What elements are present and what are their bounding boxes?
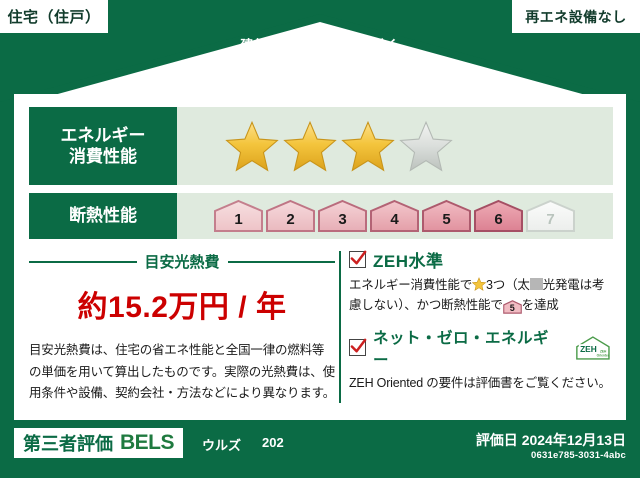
zeh-body-part-b: 3つ（太 [486, 278, 530, 292]
inline-badge-value: 5 [503, 300, 522, 317]
evaluation-date: 評価日 2024年12月13日 [476, 430, 626, 450]
bels-jp-label: 第三者評価 [23, 430, 113, 456]
bels-energy-label: 住宅（住戸） 再エネ設備なし 建築物省エネ法に基づく 省エネ性能ラベル エネルギ… [0, 0, 640, 478]
insulation-level-badge: 3 [317, 199, 368, 233]
star-filled-icon [225, 119, 279, 173]
energy-label-line1: エネルギー [61, 126, 146, 145]
utility-cost-amount: 約15.2万円 / 年 [29, 282, 335, 326]
energy-performance-label: エネルギー 消費性能 [29, 107, 177, 185]
zeh-net-checkbox[interactable] [349, 339, 366, 356]
zeh-body-part-d: を達成 [522, 298, 559, 312]
insulation-level-badge: 5 [421, 199, 472, 233]
insulation-level-badge: 2 [265, 199, 316, 233]
zeh-level-block: ZEH水準 エネルギー消費性能で3つ（太光発電は考慮しない）、かつ断熱性能で5を… [349, 247, 613, 316]
zeh-net-block: ネット・ゼロ・エネルギー ZEH ZEH Oriented ZEH Orient… [349, 326, 613, 393]
insulation-level-strip: 1 2 3 [213, 199, 577, 233]
insulation-performance-row: 断熱性能 1 2 [29, 193, 613, 239]
insulation-level-badge-inactive: 7 [525, 199, 576, 233]
svg-text:Oriented: Oriented [597, 353, 610, 357]
insulation-level-value: 3 [338, 212, 346, 233]
zeh-net-title: ネット・ゼロ・エネルギー [373, 326, 564, 370]
tag-building-type: 住宅（住戸） [0, 0, 108, 33]
insulation-level-badge: 1 [213, 199, 264, 233]
zeh-level-checkbox[interactable] [349, 251, 366, 268]
zeh-level-title: ZEH水準 [373, 247, 444, 272]
zeh-logo-icon: ZEH ZEH Oriented [573, 335, 613, 361]
evaluation-id: 0631e785-3031-4abc [531, 450, 626, 461]
label-card: エネルギー 消費性能 [14, 94, 626, 420]
bels-plate: 第三者評価 BELS [14, 428, 183, 458]
star-icon [472, 277, 486, 291]
title-block: 建築物省エネ法に基づく 省エネ性能ラベル [0, 34, 640, 95]
insulation-level-value: 6 [494, 212, 502, 233]
zeh-level-body: エネルギー消費性能で3つ（太光発電は考慮しない）、かつ断熱性能で5を達成 [349, 275, 613, 316]
page-title: 省エネ性能ラベル [0, 56, 640, 95]
energy-stars-area [177, 107, 613, 185]
star-filled-icon [283, 119, 337, 173]
check-icon [349, 249, 368, 268]
building-name: ウルズ [202, 435, 241, 454]
insulation-performance-label: 断熱性能 [29, 193, 177, 239]
insulation-level-value: 5 [442, 212, 450, 233]
footer-bar: 第三者評価 BELS ウルズ 202 評価日 2024年12月13日 0631e… [0, 420, 640, 478]
utility-cost-note: 目安光熱費は、住宅の省エネ性能と全国一律の燃料等の単価を用いて算出したものです。… [29, 340, 335, 405]
redacted-block [530, 278, 543, 290]
insulation-level-value: 1 [234, 212, 242, 233]
section-divider [339, 251, 341, 403]
energy-performance-row: エネルギー 消費性能 [29, 107, 613, 185]
tag-renewable-equipment: 再エネ設備なし [512, 0, 640, 33]
check-icon [349, 337, 368, 356]
insulation-level-value: 7 [546, 212, 554, 233]
insulation-level-value: 2 [286, 212, 294, 233]
zeh-body-part-a: エネルギー消費性能で [349, 278, 472, 292]
zeh-net-body: ZEH Oriented の要件は評価書をご覧ください。 [349, 373, 613, 393]
insulation-level-badge: 6 [473, 199, 524, 233]
insulation-badges-area: 1 2 3 [177, 193, 613, 239]
label-subtitle: 建築物省エネ法に基づく [0, 34, 640, 54]
inline-insulation-badge: 5 [503, 300, 522, 314]
utility-cost-heading-text: 目安光熱費 [145, 251, 220, 272]
utility-cost-heading: 目安光熱費 [29, 251, 335, 272]
star-empty-icon [399, 119, 453, 173]
star-filled-icon [341, 119, 395, 173]
zeh-net-heading: ネット・ゼロ・エネルギー ZEH ZEH Oriented [349, 326, 613, 370]
insulation-level-value: 4 [390, 212, 398, 233]
rule-right [228, 261, 336, 263]
rule-left [29, 261, 137, 263]
insulation-level-badge: 4 [369, 199, 420, 233]
bels-en-label: BELS [120, 431, 174, 455]
svg-text:ZEH: ZEH [580, 344, 597, 354]
zeh-level-heading: ZEH水準 [349, 247, 613, 272]
energy-label-line2: 消費性能 [69, 147, 137, 166]
zeh-section: ZEH水準 エネルギー消費性能で3つ（太光発電は考慮しない）、かつ断熱性能で5を… [349, 247, 613, 407]
unit-number: 202 [262, 435, 284, 450]
utility-cost-section: 目安光熱費 約15.2万円 / 年 目安光熱費は、住宅の省エネ性能と全国一律の燃… [29, 247, 335, 407]
